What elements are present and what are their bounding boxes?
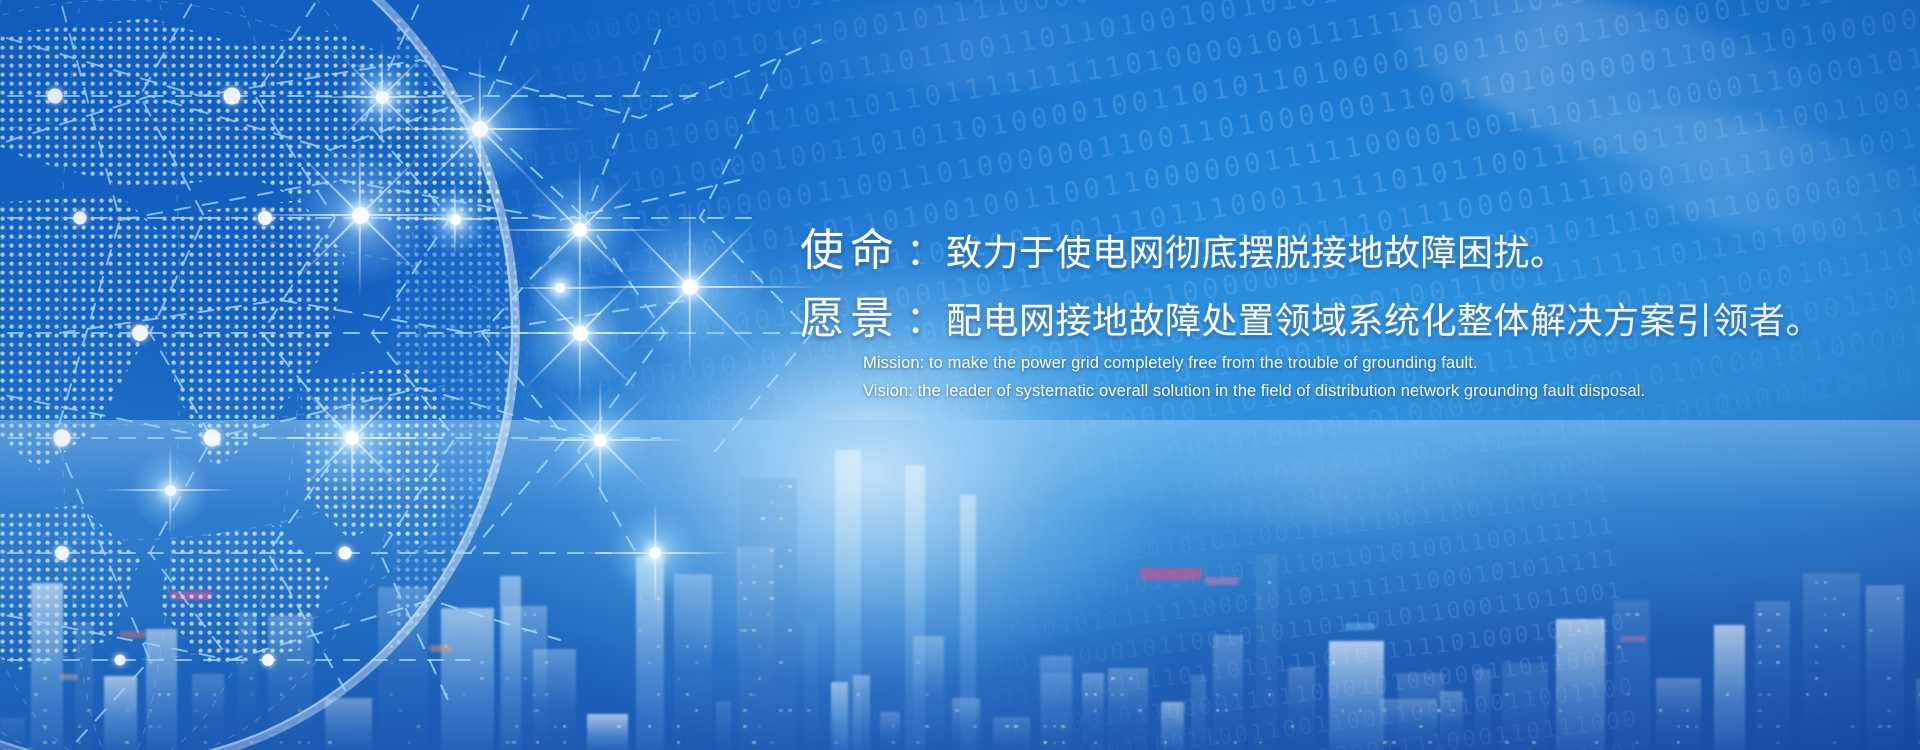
- building-window-light: [1776, 613, 1780, 616]
- building-window-light: [204, 741, 208, 744]
- building: [146, 629, 177, 750]
- neon-sign: [1620, 636, 1646, 642]
- building-window-light: [533, 709, 537, 712]
- building-window-light: [743, 725, 747, 728]
- building-window-light: [1767, 693, 1771, 696]
- building-window-light: [1815, 645, 1819, 648]
- headline-mission-key: 使命: [800, 225, 900, 276]
- building-window-light: [1824, 629, 1828, 632]
- building: [913, 636, 944, 750]
- building-window-light: [1767, 629, 1771, 632]
- building-window-light: [1359, 709, 1363, 712]
- building-window-light: [524, 629, 528, 632]
- building-window-light: [1686, 709, 1690, 712]
- building-window-light: [648, 581, 652, 584]
- building-window-light: [916, 661, 920, 664]
- building-window-light: [1532, 741, 1536, 744]
- building-window-light: [1776, 741, 1780, 744]
- building-window-light: [1234, 741, 1238, 744]
- building-window-light: [761, 517, 765, 520]
- building-window-light: [1043, 725, 1047, 728]
- building-window-light: [639, 597, 643, 600]
- building: [503, 606, 547, 750]
- building-window-light: [1677, 725, 1681, 728]
- building-window-light: [892, 741, 896, 744]
- building: [75, 622, 93, 750]
- neon-sign: [170, 591, 212, 600]
- building-window-light: [1869, 629, 1873, 632]
- building: [1082, 673, 1104, 750]
- building-window-light: [1164, 741, 1168, 744]
- building-window-light: [1815, 677, 1819, 680]
- building-window-light: [52, 629, 56, 632]
- building: [1256, 554, 1278, 750]
- building: [325, 698, 372, 750]
- building-window-light: [788, 485, 792, 488]
- city-skyline: [0, 420, 1920, 750]
- building-window-light: [417, 613, 421, 616]
- building-window-light: [1005, 725, 1009, 728]
- binary-digit-texture: 0001011100010110010110110101011101111101…: [0, 0, 1920, 750]
- building-window-light: [657, 693, 661, 696]
- building-window-light: [1259, 597, 1263, 600]
- building-window-light: [788, 629, 792, 632]
- building-window-light: [34, 693, 38, 696]
- building-window-light: [390, 661, 394, 664]
- building-window-light: [43, 597, 47, 600]
- building-window-light: [752, 693, 756, 696]
- building-window-light: [1635, 741, 1639, 744]
- building: [1475, 669, 1491, 750]
- building-window-light: [1833, 597, 1837, 600]
- building: [1108, 668, 1147, 750]
- building-window-light: [250, 677, 254, 680]
- building-window-light: [462, 693, 466, 696]
- neon-sign: [430, 645, 452, 652]
- building-window-light: [213, 693, 217, 696]
- building-window-light: [1044, 741, 1048, 744]
- building-window-light: [758, 725, 762, 728]
- building-window-light: [767, 581, 771, 584]
- building-window-light: [1437, 709, 1441, 712]
- building-window-light: [524, 613, 528, 616]
- building-window-light: [563, 725, 567, 728]
- building-window-light: [1419, 709, 1423, 712]
- building-window-light: [43, 661, 47, 664]
- building: [1916, 679, 1920, 750]
- building-window-light: [1758, 709, 1762, 712]
- building-window-light: [1887, 709, 1891, 712]
- building-window-light: [1842, 613, 1846, 616]
- building-window-light: [444, 645, 448, 648]
- building: [192, 674, 225, 750]
- building: [737, 547, 774, 750]
- building-window-light: [740, 581, 744, 584]
- building: [1755, 601, 1790, 750]
- building-window-light: [1758, 661, 1762, 664]
- building: [104, 676, 136, 750]
- building-window-light: [770, 597, 774, 600]
- building-window-light: [307, 661, 311, 664]
- building-window-light: [1419, 725, 1423, 728]
- cloud-wisp: [1120, 455, 1540, 525]
- landmark-tower: [835, 450, 861, 750]
- cloud-wisp: [1369, 0, 1910, 229]
- building-window-light: [43, 725, 47, 728]
- building-window-light: [524, 677, 528, 680]
- building-window-light: [298, 709, 302, 712]
- building-window-light: [399, 709, 403, 712]
- building-window-light: [545, 661, 549, 664]
- headline-vision-colon: ：: [900, 298, 946, 342]
- building-window-light: [767, 613, 771, 616]
- building-window-light: [1806, 693, 1810, 696]
- building: [952, 698, 980, 750]
- building-window-light: [677, 741, 681, 744]
- network-globe-graphic: [0, 0, 1920, 750]
- building-window-light: [1234, 693, 1238, 696]
- building-window-light: [1833, 741, 1837, 744]
- landmark-tower: [960, 495, 976, 750]
- building-window-light: [686, 693, 690, 696]
- building-window-light: [1014, 725, 1018, 728]
- building-window-light: [695, 661, 699, 664]
- building-window-light: [1695, 725, 1699, 728]
- building: [1656, 678, 1702, 750]
- building-window-light: [1259, 741, 1263, 744]
- building-window-light: [779, 709, 783, 712]
- building-window-light: [779, 517, 783, 520]
- building-window-light: [1896, 597, 1900, 600]
- building: [533, 649, 576, 750]
- headline-vision-body: 配电网接地故障处置领域系统化整体解决方案引领者。: [946, 301, 1822, 342]
- building-window-light: [1268, 693, 1272, 696]
- building: [500, 576, 521, 750]
- building-window-light: [1216, 709, 1220, 712]
- building-window-light: [856, 693, 860, 696]
- building-window-light: [1452, 709, 1456, 712]
- building-window-light: [241, 629, 245, 632]
- neon-sign: [120, 631, 146, 638]
- building-window-light: [390, 613, 394, 616]
- building-window-light: [280, 693, 284, 696]
- building-window-light: [1726, 693, 1730, 696]
- building-window-light: [506, 741, 510, 744]
- building-window-light: [704, 645, 708, 648]
- building-window-light: [536, 709, 540, 712]
- building-window-light: [390, 693, 394, 696]
- building-window-light: [743, 597, 747, 600]
- building-window-light: [1094, 741, 1098, 744]
- building: [1380, 699, 1437, 750]
- building-window-light: [749, 613, 753, 616]
- building-window-light: [289, 677, 293, 680]
- building: [1288, 667, 1315, 750]
- building-window-light: [955, 709, 959, 712]
- building-window-light: [1878, 725, 1882, 728]
- building-window-light: [280, 741, 284, 744]
- building-window-light: [167, 693, 171, 696]
- building-window-light: [480, 661, 484, 664]
- building-window-light: [125, 741, 129, 744]
- landmark-tower: [905, 465, 925, 750]
- building-window-light: [1758, 613, 1762, 616]
- building-window-light: [43, 709, 47, 712]
- building: [1398, 673, 1444, 750]
- building-window-light: [1085, 693, 1089, 696]
- building-window-light: [1595, 741, 1599, 744]
- building-window-light: [807, 709, 811, 712]
- building: [880, 712, 901, 750]
- building-window-light: [1428, 741, 1432, 744]
- building-window-light: [1062, 741, 1066, 744]
- building: [993, 717, 1030, 750]
- building-window-light: [648, 661, 652, 664]
- building: [1556, 619, 1605, 750]
- building-window-light: [1043, 741, 1047, 744]
- building-window-light: [1758, 693, 1762, 696]
- building-window-light: [512, 741, 516, 744]
- building-window-light: [1383, 741, 1387, 744]
- building-window-light: [1824, 597, 1828, 600]
- building-window-light: [1776, 645, 1780, 648]
- building-window-light: [1677, 741, 1681, 744]
- building-window-light: [1842, 645, 1846, 648]
- building: [1866, 585, 1903, 750]
- building-window-light: [686, 645, 690, 648]
- building-window-light: [1824, 613, 1828, 616]
- building-window-light: [34, 629, 38, 632]
- building-window-light: [158, 725, 162, 728]
- building-window-light: [1577, 629, 1581, 632]
- building-window-light: [788, 709, 792, 712]
- building-window-light: [779, 485, 783, 488]
- building-window-light: [1120, 693, 1124, 696]
- building: [1440, 691, 1463, 750]
- building-window-light: [1268, 677, 1272, 680]
- building-window-light: [78, 741, 82, 744]
- building-window-light: [779, 661, 783, 664]
- building-window-light: [657, 597, 661, 600]
- building-window-light: [1686, 725, 1690, 728]
- building-window-light: [752, 629, 756, 632]
- building-window-light: [87, 677, 91, 680]
- building: [1329, 641, 1384, 750]
- building-window-light: [758, 677, 762, 680]
- building-window-light: [1758, 725, 1762, 728]
- building-window-light: [1824, 581, 1828, 584]
- hero-banner: 0001011100010110010110110101011101111101…: [0, 0, 1920, 750]
- building-window-light: [743, 709, 747, 712]
- headline-mission: 使命：致力于使电网彻底摆脱接地故障困扰。: [800, 214, 1567, 278]
- binary-digit-texture: 1101000101100011001101011011000110110001…: [0, 0, 1920, 750]
- building-window-light: [740, 629, 744, 632]
- building-window-light: [417, 725, 421, 728]
- building-window-light: [480, 677, 484, 680]
- building-window-light: [770, 741, 774, 744]
- building-window-light: [617, 725, 621, 728]
- building: [378, 587, 428, 750]
- building-window-light: [973, 725, 977, 728]
- building: [238, 612, 257, 750]
- building-window-light: [149, 725, 153, 728]
- building-window-light: [1392, 741, 1396, 744]
- building-window-light: [1383, 709, 1387, 712]
- building-window-light: [298, 741, 302, 744]
- building-window-light: [1505, 741, 1509, 744]
- building-window-light: [752, 565, 756, 568]
- subtitle-vision: Vision: the leader of systematic overall…: [863, 382, 1645, 401]
- building: [587, 714, 628, 750]
- network-lines: [0, 0, 820, 750]
- building-window-light: [1887, 725, 1891, 728]
- neon-sign: [1140, 568, 1202, 580]
- building-window-light: [149, 709, 153, 712]
- building-window-light: [1626, 693, 1630, 696]
- building-window-light: [1111, 693, 1115, 696]
- building-window-light: [204, 725, 208, 728]
- building-window-light: [1815, 581, 1819, 584]
- building-window-light: [1061, 725, 1065, 728]
- building-window-light: [1776, 725, 1780, 728]
- building-window-light: [250, 741, 254, 744]
- building-window-light: [916, 741, 920, 744]
- building-window-light: [1341, 709, 1345, 712]
- neon-sign: [1345, 623, 1375, 630]
- building-window-light: [195, 709, 199, 712]
- building-window-light: [1887, 677, 1891, 680]
- building: [831, 682, 848, 750]
- vignette-overlay: [0, 0, 1920, 750]
- skyline-haze: [0, 420, 1920, 750]
- building-window-light: [1225, 709, 1229, 712]
- building-window-light: [892, 725, 896, 728]
- building: [636, 556, 664, 750]
- building-window-light: [1094, 709, 1098, 712]
- building-window-light: [399, 597, 403, 600]
- building-window-light: [149, 661, 153, 664]
- building-window-light: [1559, 645, 1563, 648]
- building-window-light: [677, 677, 681, 680]
- neon-sign: [60, 674, 78, 680]
- cloud-wisp: [760, 0, 1180, 90]
- building: [1040, 656, 1072, 750]
- building-window-light: [125, 709, 129, 712]
- building-window-light: [1291, 725, 1295, 728]
- building-window-light: [158, 693, 162, 696]
- building-window-light: [695, 709, 699, 712]
- headline-vision-key: 愿景: [800, 293, 900, 344]
- building-window-light: [779, 565, 783, 568]
- building: [1714, 625, 1745, 750]
- building: [674, 574, 712, 750]
- building-window-light: [533, 693, 537, 696]
- building-window-light: [1626, 613, 1630, 616]
- network-node: [48, 88, 352, 667]
- building-window-light: [1851, 725, 1855, 728]
- building: [1191, 675, 1206, 750]
- building-window-light: [1595, 645, 1599, 648]
- building-window-light: [1617, 645, 1621, 648]
- building-window-light: [758, 645, 762, 648]
- building-window-light: [1138, 709, 1142, 712]
- building-window-light: [408, 741, 412, 744]
- building-window-light: [307, 741, 311, 744]
- building-window-light: [1332, 661, 1336, 664]
- building: [1213, 635, 1243, 750]
- subtitle-mission: Mission: to make the power grid complete…: [863, 354, 1478, 373]
- building: [804, 623, 818, 750]
- building-window-light: [1094, 693, 1098, 696]
- building-window-light: [1758, 645, 1762, 648]
- building-window-light: [743, 629, 747, 632]
- building-window-light: [78, 725, 82, 728]
- building-window-light: [533, 613, 537, 616]
- building-window-light: [554, 725, 558, 728]
- cloud-wisp: [1533, 78, 1920, 273]
- building-window-light: [1559, 709, 1563, 712]
- building-window-light: [1129, 677, 1133, 680]
- building-window-light: [648, 725, 652, 728]
- building-window-light: [444, 693, 448, 696]
- building: [441, 608, 494, 750]
- building-window-light: [536, 741, 540, 744]
- building-window-light: [1776, 661, 1780, 664]
- building-window-light: [1659, 709, 1663, 712]
- building: [1161, 702, 1185, 750]
- building-window-light: [677, 725, 681, 728]
- headline-vision: 愿景：配电网接地故障处置领域系统化整体解决方案引领者。: [800, 282, 1822, 346]
- building-window-light: [770, 501, 774, 504]
- building-window-light: [1815, 661, 1819, 664]
- building-window-light: [1635, 613, 1639, 616]
- building-window-light: [250, 693, 254, 696]
- building: [268, 615, 313, 750]
- building-window-light: [639, 629, 643, 632]
- headline-mission-body: 致力于使电网彻底摆脱接地故障困扰。: [946, 233, 1567, 274]
- building-window-light: [390, 645, 394, 648]
- building-window-light: [770, 581, 774, 584]
- building-window-light: [834, 741, 838, 744]
- building-window-light: [770, 549, 774, 552]
- building-window-light: [1268, 581, 1272, 584]
- building-window-light: [1505, 693, 1509, 696]
- building-window-light: [752, 741, 756, 744]
- building-window-light: [1053, 725, 1057, 728]
- building-window-light: [925, 725, 929, 728]
- building: [0, 718, 25, 750]
- building-window-light: [1216, 741, 1220, 744]
- building-window-light: [925, 693, 929, 696]
- building-window-light: [749, 693, 753, 696]
- dotted-globe: [0, 0, 600, 750]
- building: [716, 701, 731, 750]
- building-window-light: [1824, 693, 1828, 696]
- building-window-light: [515, 725, 519, 728]
- building: [1041, 673, 1072, 750]
- building-window-light: [1111, 677, 1115, 680]
- building-window-light: [657, 645, 661, 648]
- building-window-light: [1053, 741, 1057, 744]
- building: [853, 675, 870, 750]
- building-window-light: [533, 629, 537, 632]
- building-window-light: [43, 677, 47, 680]
- building-window-light: [87, 709, 91, 712]
- building-window-light: [788, 549, 792, 552]
- building-window-light: [1216, 693, 1220, 696]
- building-window-light: [328, 741, 332, 744]
- building: [1614, 600, 1650, 750]
